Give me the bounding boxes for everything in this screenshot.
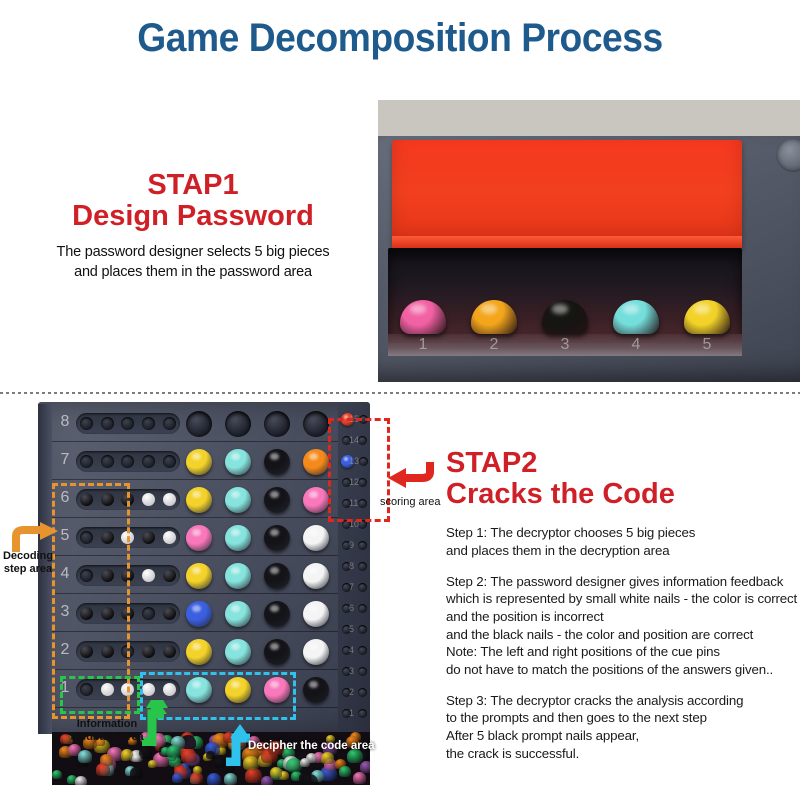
- step2-paragraph-3: Step 3: The decryptor cracks the analysi…: [446, 692, 798, 763]
- feedback-pin-white[interactable]: [163, 531, 176, 544]
- feedback-label-line-1: Information: [55, 718, 159, 731]
- step2-para3-line-4: the crack is successful.: [446, 745, 798, 763]
- step2-para1-line-2: and places them in the decryption area: [446, 542, 798, 560]
- scoring-number: 3: [349, 666, 354, 676]
- decoding-step-area-label: Decoding step area: [0, 550, 56, 575]
- spare-peg: [360, 761, 370, 773]
- scoring-hole[interactable]: [358, 583, 367, 592]
- guess-peg-cyan[interactable]: [225, 601, 251, 627]
- guess-peg-black[interactable]: [264, 601, 290, 627]
- scoring-slot-5[interactable]: 5: [338, 620, 370, 639]
- feedback-pin-black[interactable]: [142, 645, 155, 658]
- decoding-label-line-2: step area: [0, 563, 56, 576]
- step2-para3-line-1: Step 3: The decryptor cracks the analysi…: [446, 692, 798, 710]
- scoring-hole[interactable]: [358, 604, 367, 613]
- scoring-hole[interactable]: [358, 625, 367, 634]
- spare-peg: [270, 767, 282, 778]
- spare-peg: [245, 768, 262, 783]
- scoring-number: 4: [349, 645, 354, 655]
- step1-text-block: STAP1 Design Password The password desig…: [18, 170, 368, 282]
- spare-peg: [224, 773, 237, 785]
- scoring-hole[interactable]: [358, 688, 367, 697]
- step2-paragraph-1: Step 1: The decryptor chooses 5 big piec…: [446, 524, 798, 559]
- spare-peg: [353, 772, 366, 784]
- scoring-slot-1[interactable]: 1: [338, 704, 370, 723]
- spare-peg: [167, 745, 181, 758]
- guess-peg-black[interactable]: [264, 563, 290, 589]
- password-slot-number: 3: [542, 336, 588, 354]
- guess-peg-pink[interactable]: [303, 487, 329, 513]
- scoring-number: 5: [349, 624, 354, 634]
- scoring-hole[interactable]: [358, 646, 367, 655]
- row-separator: [52, 479, 370, 480]
- guess-peg-cyan[interactable]: [225, 639, 251, 665]
- scoring-slot-6[interactable]: 6: [338, 599, 370, 618]
- step1-description: The password designer selects 5 big piec…: [18, 242, 368, 282]
- step1-desc-line-1: The password designer selects 5 big piec…: [18, 242, 368, 262]
- feedback-pin-hole[interactable]: [121, 417, 134, 430]
- feedback-pin-tray[interactable]: [76, 451, 180, 472]
- step2-para2-line-5: Note: The left and right positions of th…: [446, 643, 798, 661]
- spare-peg: [172, 773, 183, 783]
- board-row-7[interactable]: 7: [52, 443, 370, 480]
- spare-peg: [207, 773, 221, 785]
- spare-peg: [181, 749, 197, 763]
- password-peg-4: [613, 300, 659, 334]
- feedback-pin-hole[interactable]: [80, 417, 93, 430]
- scoring-hole[interactable]: [358, 709, 367, 718]
- feedback-pin-hole[interactable]: [80, 455, 93, 468]
- guess-peg-black[interactable]: [264, 487, 290, 513]
- guess-peg-empty[interactable]: [186, 411, 212, 437]
- guess-peg-cyan[interactable]: [225, 525, 251, 551]
- guess-peg-cyan[interactable]: [225, 563, 251, 589]
- spare-peg: [193, 766, 202, 774]
- feedback-pin-tray[interactable]: [76, 413, 180, 434]
- guess-peg-empty[interactable]: [303, 411, 329, 437]
- feedback-pin-black[interactable]: [142, 531, 155, 544]
- scoring-number: 1: [349, 708, 354, 718]
- feedback-pin-hole[interactable]: [121, 455, 134, 468]
- feedback-pin-white[interactable]: [142, 569, 155, 582]
- password-slot-numbers: 12345: [400, 336, 730, 354]
- decoding-label-line-1: Decoding: [0, 550, 56, 563]
- guess-peg-black[interactable]: [264, 639, 290, 665]
- password-slot-number: 1: [400, 336, 446, 354]
- row-separator: [52, 441, 370, 442]
- step1-heading: Design Password: [18, 201, 368, 233]
- password-peg-5: [684, 300, 730, 334]
- spare-peg: [52, 770, 62, 779]
- spare-peg: [321, 752, 334, 764]
- feedback-label-line-2: feedback area: [55, 731, 159, 744]
- step2-para2-line-2: which is represented by small white nail…: [446, 590, 798, 608]
- feedback-pin-hole[interactable]: [142, 417, 155, 430]
- password-peg-2: [471, 300, 517, 334]
- feedback-pin-black[interactable]: [163, 569, 176, 582]
- guess-peg-yellow[interactable]: [186, 639, 212, 665]
- spare-peg: [301, 774, 318, 785]
- spare-peg: [148, 760, 157, 768]
- scoring-number: 9: [349, 540, 354, 550]
- feedback-pin-hole[interactable]: [101, 417, 114, 430]
- guess-peg-empty[interactable]: [264, 411, 290, 437]
- spare-peg: [132, 754, 141, 762]
- guess-peg-white[interactable]: [303, 525, 329, 551]
- guess-peg-black[interactable]: [303, 677, 329, 703]
- password-slot-number: 4: [613, 336, 659, 354]
- step1-label: STAP1: [18, 170, 368, 200]
- step2-heading: Cracks the Code: [446, 479, 798, 511]
- feedback-pin-black[interactable]: [163, 607, 176, 620]
- scoring-slot-3[interactable]: 3: [338, 662, 370, 681]
- scoring-area-label: scoring area: [380, 496, 441, 508]
- scoring-number: 2: [349, 687, 354, 697]
- guess-peg-empty[interactable]: [225, 411, 251, 437]
- information-feedback-area-label: Information feedback area: [55, 718, 159, 743]
- feedback-pin-hole[interactable]: [163, 455, 176, 468]
- guess-peg-orange[interactable]: [303, 449, 329, 475]
- spare-peg: [96, 763, 110, 776]
- scoring-number: 6: [349, 603, 354, 613]
- scoring-hole[interactable]: [358, 541, 367, 550]
- guess-peg-yellow[interactable]: [186, 563, 212, 589]
- guess-peg-white[interactable]: [303, 639, 329, 665]
- guess-peg-pink[interactable]: [186, 525, 212, 551]
- step2-para2-line-3: and the position is incorrect: [446, 608, 798, 626]
- guess-peg-cyan[interactable]: [225, 449, 251, 475]
- scoring-slot-4[interactable]: 4: [338, 641, 370, 660]
- spare-peg: [339, 766, 351, 777]
- board-row-number: 7: [56, 451, 74, 469]
- step2-para2-line-4: and the black nails - the color and posi…: [446, 626, 798, 644]
- board-row-number: 8: [56, 413, 74, 431]
- spare-peg: [130, 767, 143, 779]
- scoring-slot-7[interactable]: 7: [338, 578, 370, 597]
- scoring-slot-8[interactable]: 8: [338, 557, 370, 576]
- password-slot-number: 2: [471, 336, 517, 354]
- step2-para3-line-3: After 5 black prompt nails appear,: [446, 727, 798, 745]
- password-peg-row: [400, 288, 730, 334]
- device-password-area-photo: 12345: [378, 100, 800, 382]
- decipher-code-area-label: Decipher the code area: [248, 740, 375, 752]
- step2-label: STAP2: [446, 448, 798, 478]
- section-divider: [0, 392, 800, 394]
- step2-para1-line-1: Step 1: The decryptor chooses 5 big piec…: [446, 524, 798, 542]
- step2-para3-line-2: to the prompts and then goes to the next…: [446, 709, 798, 727]
- guess-peg-black[interactable]: [264, 449, 290, 475]
- step2-paragraph-2: Step 2: The password designer gives info…: [446, 573, 798, 679]
- feedback-pin-white[interactable]: [163, 493, 176, 506]
- spare-peg: [75, 776, 87, 785]
- spare-peg: [300, 758, 310, 767]
- device-body: 12345: [378, 136, 800, 382]
- guess-peg-yellow[interactable]: [186, 487, 212, 513]
- feedback-pin-hole[interactable]: [163, 417, 176, 430]
- scoring-hole[interactable]: [358, 667, 367, 676]
- feedback-pin-hole[interactable]: [142, 455, 155, 468]
- scoring-slot-9[interactable]: 9: [338, 536, 370, 555]
- scoring-hole[interactable]: [358, 562, 367, 571]
- step1-desc-line-2: and places them in the password area: [18, 262, 368, 282]
- guess-peg-yellow[interactable]: [186, 449, 212, 475]
- password-peg-1: [400, 300, 446, 334]
- spare-peg: [206, 751, 215, 759]
- device-knob: [776, 138, 800, 172]
- device-red-lid: [392, 140, 742, 250]
- information-feedback-area-box: [60, 676, 140, 714]
- guess-peg-cyan[interactable]: [225, 487, 251, 513]
- feedback-pin-white[interactable]: [142, 493, 155, 506]
- guess-peg-black[interactable]: [264, 525, 290, 551]
- page-title: Game Decomposition Process: [28, 16, 772, 61]
- feedback-pin-hole[interactable]: [101, 455, 114, 468]
- guess-peg-white[interactable]: [303, 563, 329, 589]
- guess-peg-white[interactable]: [303, 601, 329, 627]
- step2-para2-line-6: do not have to match the positions of th…: [446, 661, 798, 679]
- scoring-arrow-icon: [386, 458, 438, 494]
- spare-peg: [78, 750, 92, 763]
- step2-text-block: STAP2 Cracks the Code Step 1: The decryp…: [446, 448, 798, 762]
- feedback-pin-black[interactable]: [163, 645, 176, 658]
- scoring-number: 8: [349, 561, 354, 571]
- guess-peg-blue[interactable]: [186, 601, 212, 627]
- scoring-number: 7: [349, 582, 354, 592]
- step2-para2-line-1: Step 2: The password designer gives info…: [446, 573, 798, 591]
- password-peg-3: [542, 300, 588, 334]
- feedback-pin-hole[interactable]: [142, 607, 155, 620]
- scoring-slot-2[interactable]: 2: [338, 683, 370, 702]
- board-row-8[interactable]: 8: [52, 405, 370, 442]
- password-slot-number: 5: [684, 336, 730, 354]
